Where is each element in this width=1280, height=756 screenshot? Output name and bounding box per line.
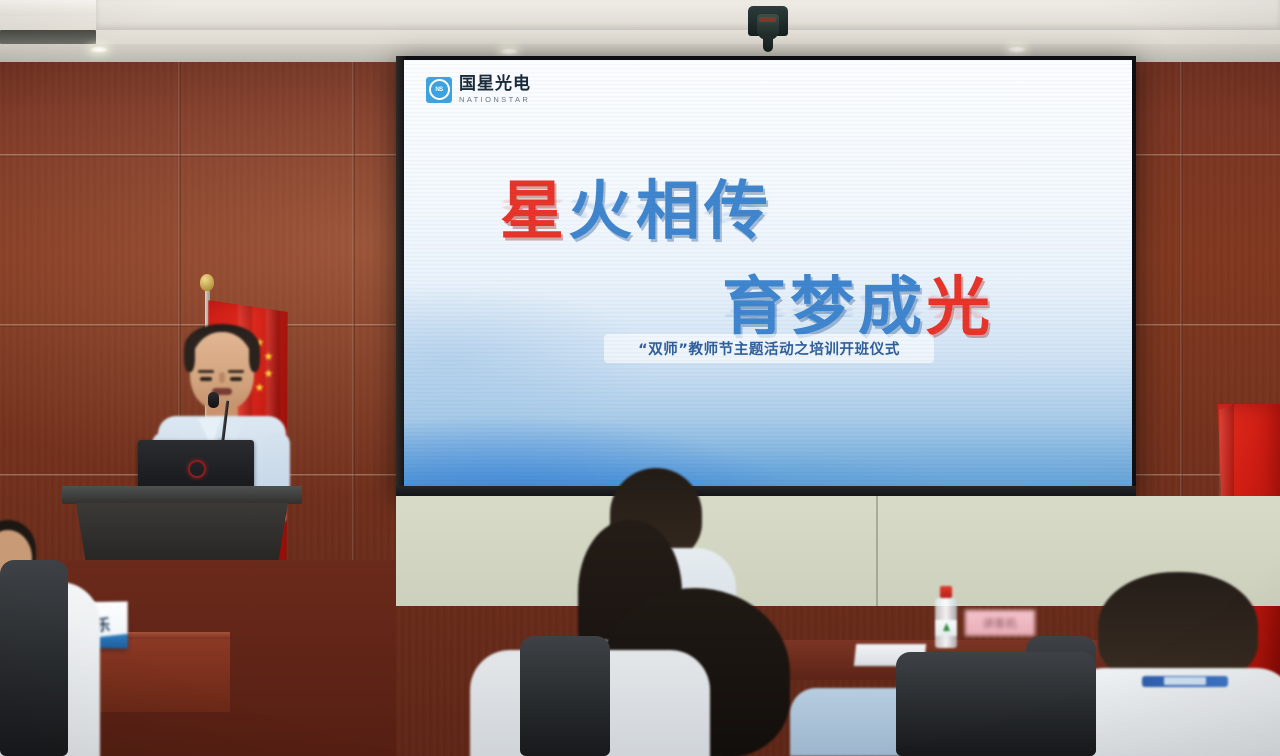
speaker-nose [219, 372, 225, 383]
nameplate-right-text: 讲客机 [983, 615, 1018, 631]
downlight-icon [500, 48, 518, 55]
headline-chars-huoxiangchuan: 火相传 [568, 175, 772, 249]
ceiling-projector-icon [745, 0, 791, 52]
ceiling-air-vent [0, 30, 96, 44]
water-bottle [935, 586, 957, 648]
nameplate-right: 讲客机 [965, 610, 1035, 636]
microphone-head-icon [208, 392, 219, 408]
speaker-eye [200, 377, 212, 381]
downlight-icon [1008, 46, 1026, 53]
headline-line1: 星火相传 [500, 160, 772, 252]
audience-seat [0, 560, 68, 756]
slide-subtitle-text: “双师”教师节主题活动之培训开班仪式 [638, 338, 900, 359]
speaker-hair-side [249, 338, 260, 372]
bottle-cap [940, 586, 952, 598]
projector-mount [763, 36, 773, 52]
ceiling [0, 0, 1280, 62]
speaker-eye [230, 377, 242, 381]
headline-char-xing: 星 [500, 175, 568, 249]
audience-seat [896, 652, 1096, 756]
lanyard-badge-icon [1164, 677, 1206, 685]
projection-screen: NS 国星光电 NATIONSTAR 星火相传 星火相传 育梦成光 育梦成光 [404, 60, 1132, 488]
ceiling-recess [96, 0, 1280, 30]
projector-indicator [759, 17, 776, 22]
podium-top-surface [62, 486, 302, 504]
slide-headline: 星火相传 星火相传 育梦成光 育梦成光 [404, 60, 1132, 488]
flagpole-finial [200, 274, 214, 291]
audience-seat [520, 636, 610, 756]
headline-char-guang: 光 [926, 271, 994, 345]
downlight-icon [90, 46, 108, 53]
speaker-hair-side [184, 338, 195, 372]
speaker-brow [228, 370, 244, 373]
laptop[interactable] [138, 440, 254, 492]
panel-seam [352, 62, 355, 562]
conference-photo: NS 国星光电 NATIONSTAR 星火相传 星火相传 育梦成光 育梦成光 [0, 0, 1280, 756]
audience-person [1080, 572, 1280, 756]
laptop-logo-icon [188, 460, 206, 478]
speaker-head [190, 332, 254, 410]
lower-wall-seam [876, 496, 878, 606]
slide-subtitle-pill: “双师”教师节主题活动之培训开班仪式 [604, 334, 934, 363]
speaker-brow [198, 370, 214, 373]
